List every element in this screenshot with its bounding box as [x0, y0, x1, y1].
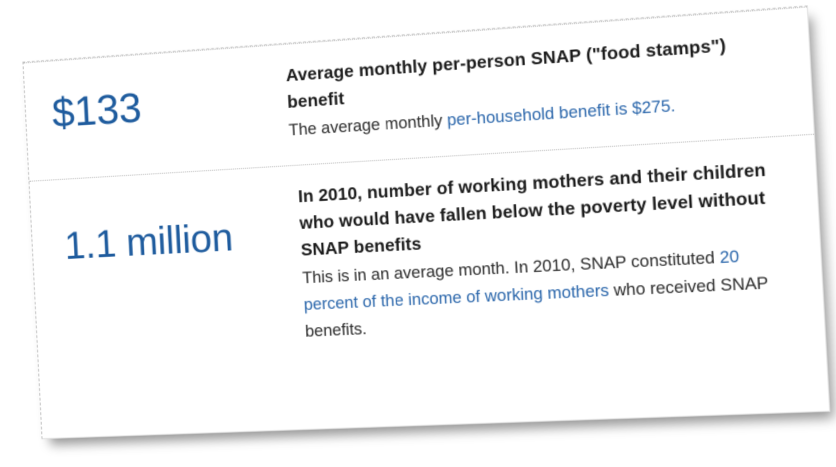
stat-number-value: 1.1 million: [45, 180, 301, 268]
inline-text: The average monthly: [288, 112, 447, 140]
stats-card: $133 Average monthly per-person SNAP ("f…: [22, 5, 830, 439]
tilted-card-wrapper: $133 Average monthly per-person SNAP ("f…: [22, 5, 830, 439]
stat-body: Average monthly per-person SNAP ("food s…: [285, 24, 789, 145]
stat-number-value: $133: [39, 59, 288, 137]
stat-row[interactable]: 1.1 million In 2010, number of working m…: [29, 135, 828, 435]
stat-body: In 2010, number of working mothers and t…: [297, 151, 800, 346]
perspective-stage: $133 Average monthly per-person SNAP ("f…: [0, 0, 836, 467]
screenshot-root: $133 Average monthly per-person SNAP ("f…: [0, 0, 836, 467]
